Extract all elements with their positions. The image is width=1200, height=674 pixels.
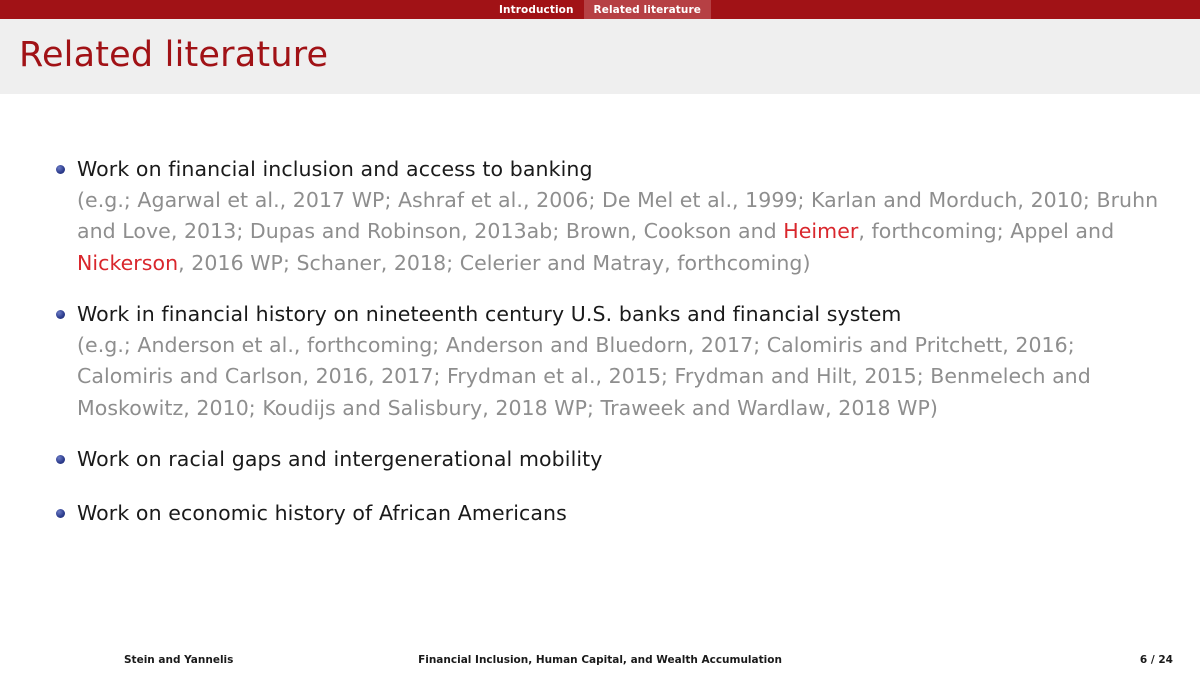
bullet-heading: Work on financial inclusion and access t…	[77, 156, 1172, 183]
bullet-dot-icon	[56, 310, 65, 319]
bullet-list: Work on financial inclusion and access t…	[52, 156, 1172, 526]
slide-content: Work on financial inclusion and access t…	[0, 94, 1200, 634]
bullet-dot-icon	[56, 509, 65, 518]
bullet-heading: Work in financial history on nineteenth …	[77, 301, 1172, 328]
navbar-left-fill	[0, 0, 506, 19]
citation-text-part: , forthcoming; Appel and	[858, 219, 1114, 243]
list-item: Work on economic history of African Amer…	[52, 500, 1172, 527]
top-navigation-bar: Introduction Related literature	[0, 0, 1200, 19]
bullet-heading: Work on racial gaps and intergenerationa…	[77, 446, 1172, 473]
footer-presentation-title: Financial Inclusion, Human Capital, and …	[0, 654, 1200, 666]
navbar-right-fill	[722, 0, 1200, 19]
bullet-heading: Work on economic history of African Amer…	[77, 500, 1172, 527]
nav-item-label-introduction: Introduction	[499, 4, 574, 16]
nav-item-label-related-literature: Related literature	[594, 4, 701, 16]
slide-title-band: Related literature	[0, 19, 1200, 94]
list-item: Work on racial gaps and intergenerationa…	[52, 446, 1172, 473]
bullet-citations: (e.g.; Agarwal et al., 2017 WP; Ashraf e…	[77, 185, 1172, 280]
nav-section-related-literature[interactable]: Related literature	[584, 0, 711, 19]
citation-text-part: (e.g.; Anderson et al., forthcoming; And…	[77, 333, 1091, 421]
bullet-citations: (e.g.; Anderson et al., forthcoming; And…	[77, 330, 1172, 425]
slide-footer: Stein and Yannelis Financial Inclusion, …	[0, 634, 1200, 674]
list-item: Work on financial inclusion and access t…	[52, 156, 1172, 280]
citation-text-part: , 2016 WP; Schaner, 2018; Celerier and M…	[178, 251, 810, 275]
footer-page-number: 6 / 24	[1140, 654, 1173, 666]
bullet-dot-icon	[56, 455, 65, 464]
citation-highlight-heimer: Heimer	[783, 219, 858, 243]
list-item: Work in financial history on nineteenth …	[52, 301, 1172, 425]
page-title: Related literature	[19, 38, 328, 73]
citation-highlight-nickerson: Nickerson	[77, 251, 178, 275]
bullet-dot-icon	[56, 165, 65, 174]
nav-section-introduction[interactable]: Introduction	[489, 0, 584, 19]
